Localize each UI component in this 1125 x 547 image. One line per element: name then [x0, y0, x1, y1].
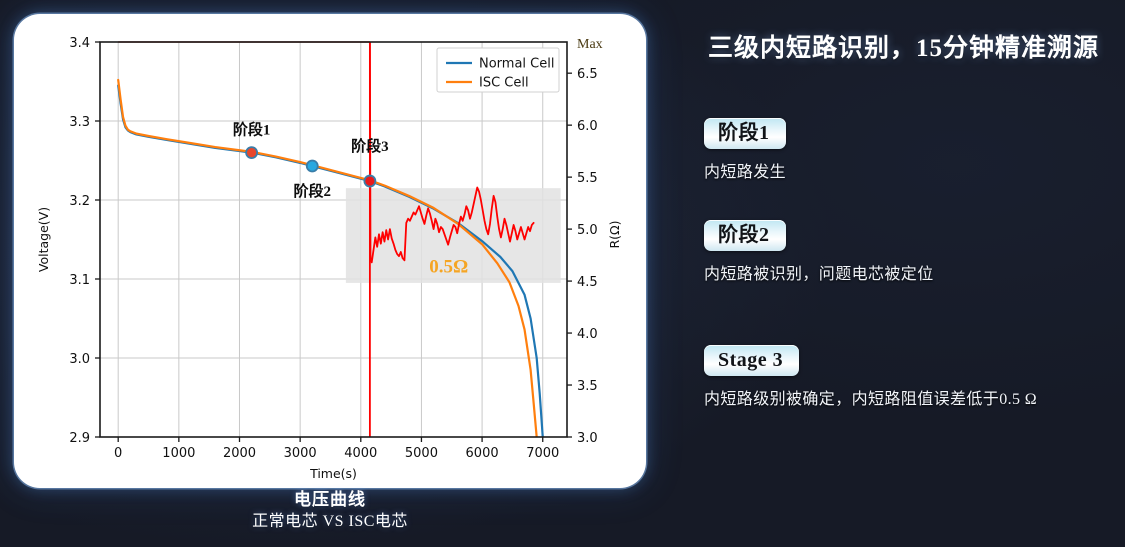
legend-label-2: ISC Cell [479, 76, 529, 91]
stage-badge-1: 阶段1 [704, 118, 786, 149]
y2-tick-label: 5.0 [577, 223, 598, 238]
y2-tick-label: 4.5 [577, 275, 598, 290]
stage-marker-3[interactable] [364, 176, 375, 187]
stage-marker-2[interactable] [307, 161, 318, 172]
y2-tick-label: 3.0 [577, 431, 598, 446]
y2-tick-label: 3.5 [577, 379, 598, 394]
y2-tick-label: 4.0 [577, 327, 598, 342]
caption-line-1: 电压曲线 [14, 489, 646, 511]
x-tick-label: 5000 [405, 446, 438, 461]
stage-annotation-label-1: 阶段1 [233, 120, 271, 138]
x-tick-label: 0 [114, 446, 122, 461]
y-axis-title: Voltage(V) [36, 207, 51, 272]
y2-tick-label: 6.0 [577, 119, 598, 134]
voltage-resistance-chart: 010002000300040005000600070002.93.03.13.… [14, 14, 646, 488]
x-tick-label: 6000 [466, 446, 499, 461]
info-panel: 三级内短路识别，15分钟精准溯源 阶段1 内短路发生 阶段2 内短路被识别，问题… [690, 0, 1125, 547]
x-tick-label: 2000 [223, 446, 256, 461]
stage-desc-2: 内短路被识别，问题电芯被定位 [704, 260, 1124, 284]
y-tick-label: 3.0 [69, 352, 90, 367]
y2-max-label: Max [577, 37, 603, 52]
chart-plot-area: 010002000300040005000600070002.93.03.13.… [14, 14, 646, 488]
stage-desc-3: 内短路级别被确定，内短路阻值误差低于0.5 Ω [704, 385, 1124, 409]
y-tick-label: 3.4 [69, 36, 90, 51]
x-axis-title: Time(s) [309, 466, 357, 481]
chart-caption: 电压曲线 正常电芯 VS ISC电芯 [14, 489, 646, 533]
y2-axis-title: R(Ω) [607, 221, 622, 249]
stage-annotation-label-3: 阶段3 [351, 137, 389, 155]
y-tick-label: 3.1 [69, 273, 90, 288]
x-tick-label: 4000 [344, 446, 377, 461]
x-tick-label: 3000 [284, 446, 317, 461]
caption-line-2: 正常电芯 VS ISC电芯 [14, 511, 646, 533]
stage-badge-2: 阶段2 [704, 220, 786, 251]
stage-block-1: 阶段1 内短路发生 [704, 118, 1124, 182]
y-tick-label: 3.3 [69, 115, 90, 130]
y-tick-label: 2.9 [69, 431, 90, 446]
stage-marker-1[interactable] [246, 147, 257, 158]
y2-tick-label: 6.5 [577, 67, 598, 82]
x-tick-label: 1000 [162, 446, 195, 461]
stage-block-3: Stage 3 内短路级别被确定，内短路阻值误差低于0.5 Ω [704, 345, 1124, 409]
legend-label-1: Normal Cell [479, 57, 554, 72]
stage-block-2: 阶段2 内短路被识别，问题电芯被定位 [704, 220, 1124, 284]
y2-tick-label: 5.5 [577, 171, 598, 186]
y-tick-label: 3.2 [69, 194, 90, 209]
stage-badge-3: Stage 3 [704, 345, 799, 376]
x-tick-label: 7000 [526, 446, 559, 461]
panel-title: 三级内短路识别，15分钟精准溯源 [708, 28, 1125, 64]
resistance-value-annotation: 0.5Ω [429, 257, 468, 278]
chart-card: 010002000300040005000600070002.93.03.13.… [14, 14, 646, 488]
stage-annotation-label-2: 阶段2 [294, 182, 332, 200]
stage-desc-1: 内短路发生 [704, 158, 1124, 182]
